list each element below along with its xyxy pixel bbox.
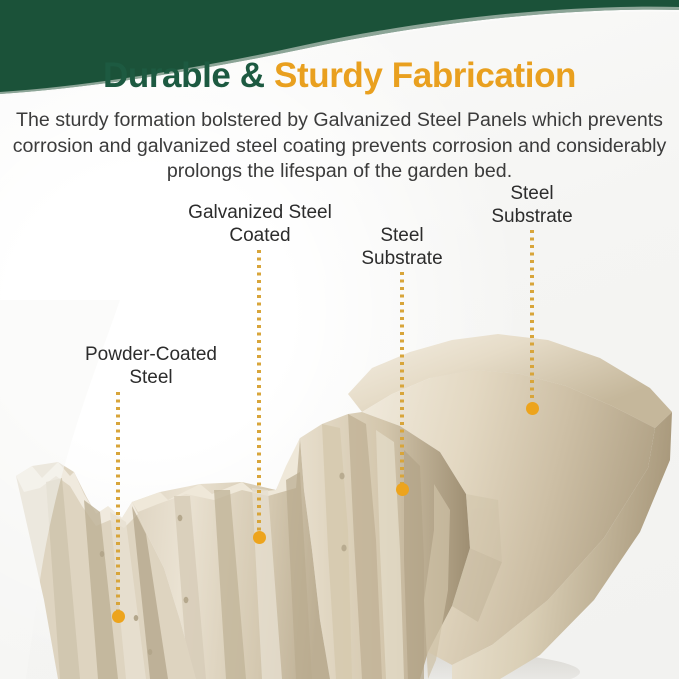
callout-label-steel-substrate-mid: Steel Substrate	[322, 224, 482, 270]
callout-label-powder-coated-steel: Powder-Coated Steel	[38, 343, 264, 389]
panel-fastener-hole	[134, 615, 139, 621]
leader-line-powder-coated-steel	[116, 392, 120, 614]
leader-dot-galvanized-steel-coated	[253, 531, 266, 544]
page-title-green-segment: Durable &	[103, 56, 274, 95]
panel-fastener-hole	[184, 597, 189, 603]
panel-fastener-hole	[148, 649, 153, 655]
panel-fastener-hole	[341, 545, 346, 552]
panel-fastener-hole	[178, 515, 183, 521]
infographic-canvas: Durable & Sturdy Fabrication The sturdy …	[0, 0, 679, 679]
callout-label-steel-substrate-right: Steel Substrate	[452, 182, 612, 228]
page-title: Durable & Sturdy Fabrication	[0, 56, 679, 95]
leader-dot-steel-substrate-mid	[396, 483, 409, 496]
leader-dot-powder-coated-steel	[112, 610, 125, 623]
panel-fastener-hole	[100, 551, 105, 557]
leader-line-steel-substrate-mid	[400, 272, 404, 487]
panel-fastener-hole	[339, 473, 344, 480]
page-title-amber-segment: Sturdy Fabrication	[274, 56, 576, 95]
leader-line-steel-substrate-right	[530, 230, 534, 406]
leader-dot-steel-substrate-right	[526, 402, 539, 415]
description-paragraph: The sturdy formation bolstered by Galvan…	[6, 108, 673, 185]
leader-line-galvanized-steel-coated	[257, 250, 261, 535]
